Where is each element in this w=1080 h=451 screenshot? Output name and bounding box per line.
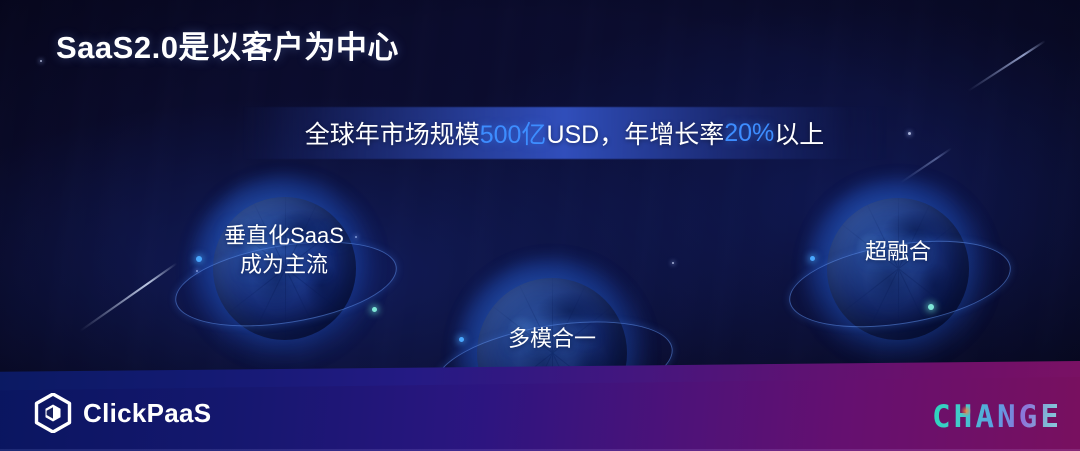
change-wordmark: CHANGE [932, 399, 1062, 435]
orbit-dot-icon [928, 304, 934, 310]
clickpaas-logo[interactable]: ClickPaaS [34, 393, 211, 433]
page-title: SaaS2.0是以客户为中心 [56, 22, 399, 67]
subtitle-banner-text: 全球年市场规模 500亿USD，年增长率20%以上 [242, 107, 887, 159]
banner-highlight-growth-rate: 20% [724, 119, 774, 148]
orbit-dot-icon [810, 256, 815, 261]
clickpaas-hexagon-icon [34, 393, 72, 433]
star-dot-icon [40, 60, 42, 62]
orbit-dot-icon [459, 337, 464, 342]
banner-middle: USD，年增长率 [546, 115, 724, 151]
star-dot-icon [908, 132, 911, 135]
presentation-slide: SaaS2.0是以客户为中心 全球年市场规模 500亿USD，年增长率20%以上… [0, 0, 1080, 451]
clickpaas-wordmark: ClickPaaS [83, 398, 211, 429]
star-dot-icon [672, 262, 674, 264]
orbit-dot-icon [196, 256, 202, 262]
orbit-dot-icon [372, 307, 377, 312]
banner-suffix: 以上 [774, 115, 824, 151]
banner-highlight-market-size: 500亿 [480, 115, 547, 151]
banner-prefix: 全球年市场规模 [305, 115, 480, 151]
